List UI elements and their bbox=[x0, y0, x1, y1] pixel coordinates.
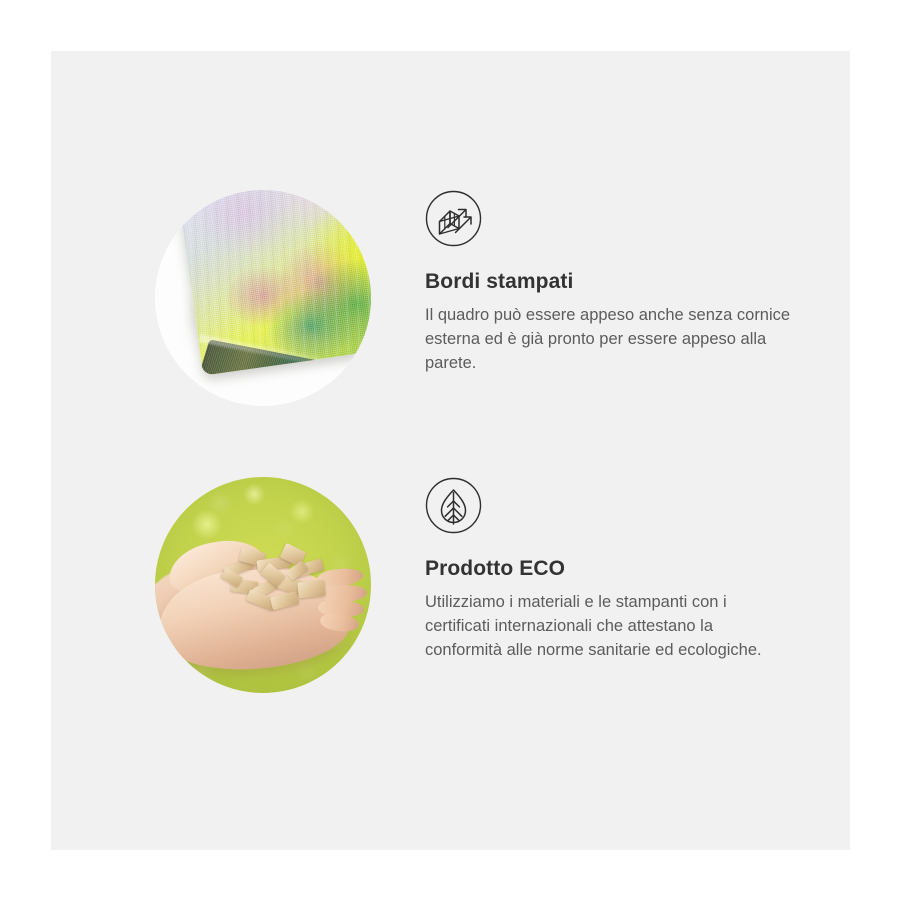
feature-eco-product: Prodotto ECO Utilizziamo i materiali e l… bbox=[51, 477, 850, 767]
canvas-body bbox=[177, 190, 371, 376]
leaf-icon bbox=[425, 477, 482, 534]
feature-title: Bordi stampati bbox=[425, 269, 805, 294]
content-panel: Bordi stampati Il quadro può essere appe… bbox=[51, 51, 850, 850]
wrapped-canvas-edge-icon bbox=[425, 190, 482, 247]
feature-description: Il quadro può essere appeso anche senza … bbox=[425, 303, 791, 375]
canvas-corner-photo-wrapper bbox=[155, 190, 371, 406]
canvas-corner-photo bbox=[155, 190, 371, 406]
wood-chips-photo-wrapper bbox=[155, 477, 371, 693]
feature-title: Prodotto ECO bbox=[425, 556, 805, 581]
feature-description: Utilizziamo i materiali e le stampanti c… bbox=[425, 590, 791, 662]
eco-product-text-column: Prodotto ECO Utilizziamo i materiali e l… bbox=[425, 477, 805, 662]
wood-chips-pile bbox=[220, 544, 332, 615]
feature-printed-edges: Bordi stampati Il quadro può essere appe… bbox=[51, 190, 850, 460]
wood-chips-in-hands-photo bbox=[155, 477, 371, 693]
printed-edges-text-column: Bordi stampati Il quadro può essere appe… bbox=[425, 190, 805, 375]
product-feature-infographic: Bordi stampati Il quadro può essere appe… bbox=[0, 0, 900, 900]
